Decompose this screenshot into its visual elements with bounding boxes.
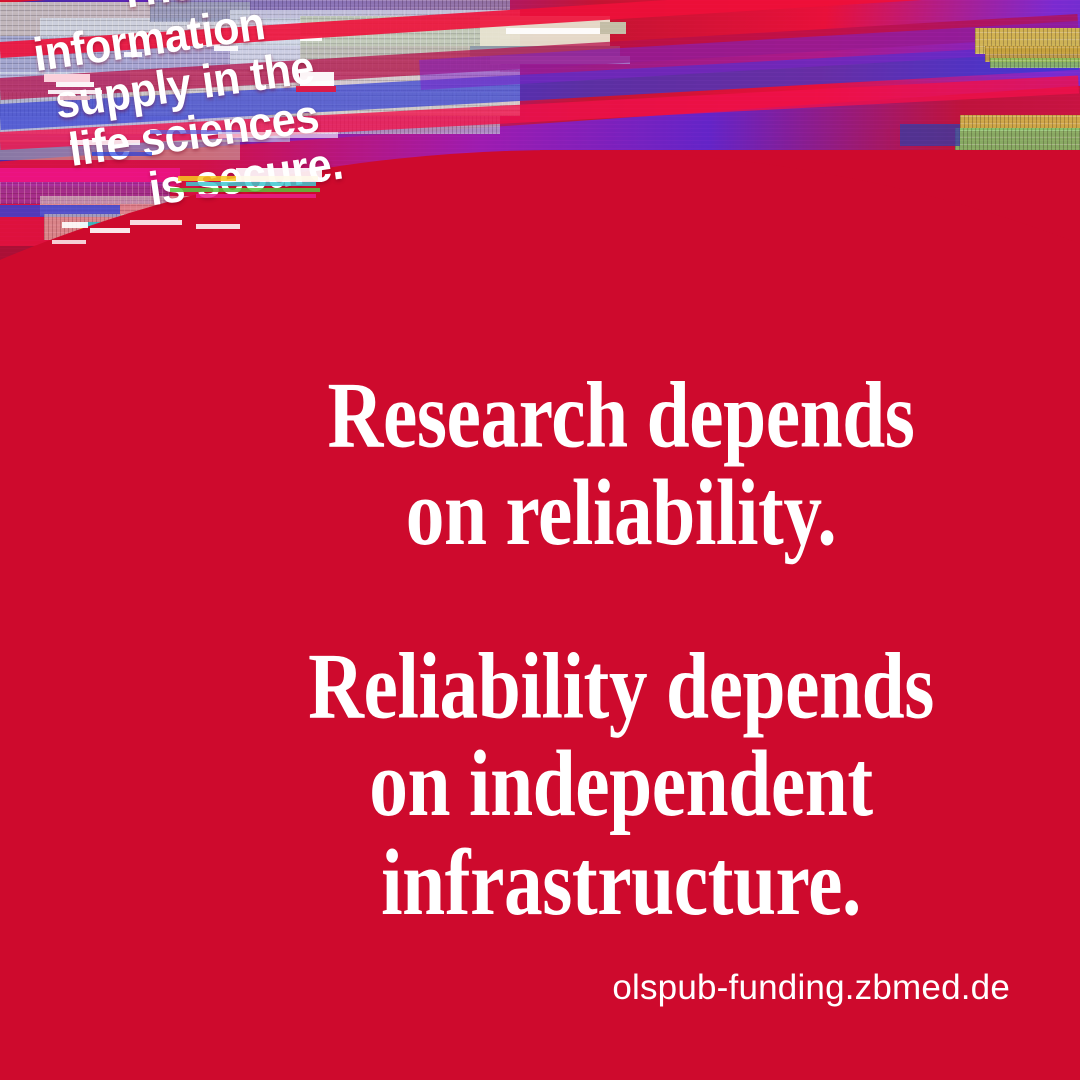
glitch-slice [296,86,336,92]
glitch-slice [44,74,90,82]
glitch-slice [300,72,334,86]
glitch-slice [52,240,86,244]
poster-canvas: The information supply in the life scien… [0,0,1080,1080]
headline-line: Reliability depends [233,637,1009,735]
glitch-slice [92,152,152,156]
glitch-slice [186,182,316,186]
headline-line: on reliability. [233,464,1009,562]
headline-line: Research depends [233,366,1009,464]
glitch-slice [196,194,316,198]
headline-block-two: Reliability depends on independent infra… [233,637,1009,932]
glitch-slice [196,224,240,229]
glitch-slice [62,222,88,228]
glitch-slice [218,132,338,138]
glitch-tile [955,128,1080,152]
glitch-slice [60,96,90,100]
headline-block-one: Research depends on reliability. [233,366,1009,563]
glitch-slice [70,140,140,145]
glitch-slice [170,188,320,192]
glitch-slice [236,168,322,182]
glitch-slice [124,52,142,57]
headline-line: on independent [233,735,1009,833]
glitch-tile [990,58,1080,68]
glitch-slice [214,46,238,51]
glitch-slice [90,228,130,233]
glitch-tile [900,124,960,146]
glitch-slice [130,220,182,225]
headline-line: infrastructure. [233,834,1009,932]
footer-url[interactable]: olspub-funding.zbmed.de [612,968,1010,1008]
glitch-slice [48,90,102,94]
headline-copy: Research depends on reliability. Reliabi… [190,366,1052,905]
glitch-tile [600,22,626,34]
glitch-slice [56,82,94,87]
